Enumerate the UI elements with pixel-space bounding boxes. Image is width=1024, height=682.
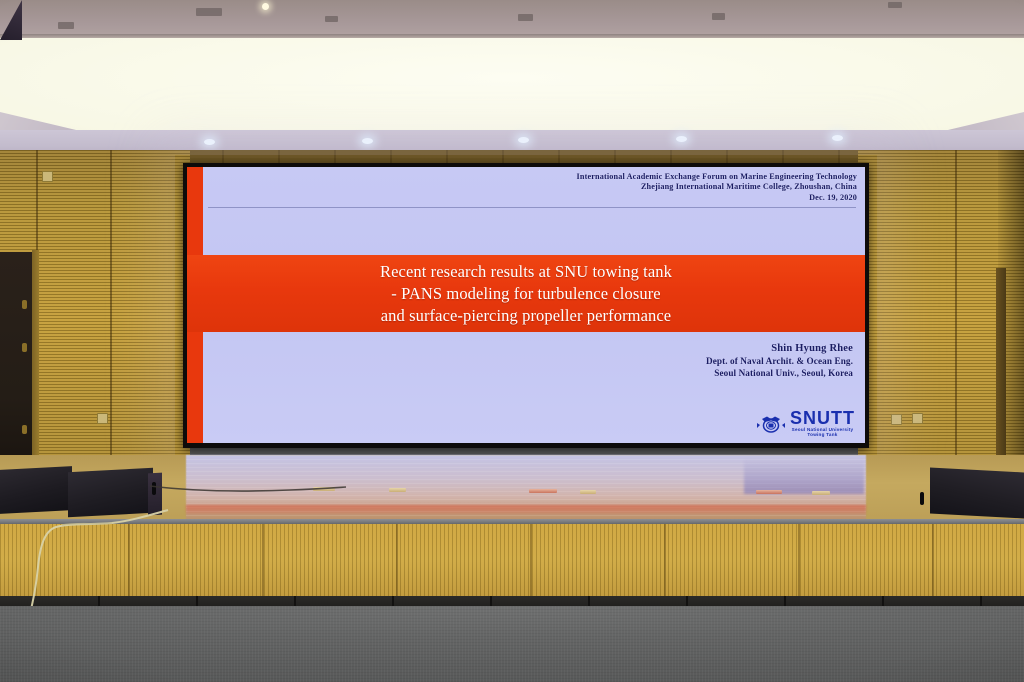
stage-panel-seam — [396, 524, 398, 602]
downlight — [518, 137, 529, 143]
snu-seal-emblem-icon — [756, 412, 786, 434]
header-line-date: Dec. 19, 2020 — [427, 193, 857, 203]
author-affiliation: Seoul National Univ., Seoul, Korea — [493, 367, 853, 379]
downlight — [832, 135, 843, 141]
header-line-forum: International Academic Exchange Forum on… — [427, 172, 857, 182]
downlight — [362, 138, 373, 144]
author-name: Shin Hyung Rhee — [493, 342, 853, 355]
slide-header: International Academic Exchange Forum on… — [427, 172, 857, 203]
ceiling-vent — [325, 16, 338, 22]
ceiling-vent — [888, 2, 902, 8]
conference-hall-scene: International Academic Exchange Forum on… — [0, 0, 1024, 682]
snutt-wordmark: SNUTT — [790, 409, 855, 427]
slide-canvas: International Academic Exchange Forum on… — [187, 167, 865, 443]
stage-monitor-speaker-right — [930, 468, 1024, 519]
wall-outlet-plate[interactable] — [97, 413, 108, 424]
stage-panel-seam — [932, 524, 934, 602]
downlight — [204, 139, 215, 145]
slide-title-line-3: and surface-piercing propeller performan… — [381, 305, 672, 327]
floor-marker — [812, 491, 830, 495]
floor-marker — [529, 489, 557, 493]
slide-author-block: Shin Hyung Rhee Dept. of Naval Archit. &… — [493, 342, 853, 379]
stage-panel-seam — [530, 524, 532, 602]
ceiling-spot-light — [262, 3, 269, 10]
floor-marker — [313, 487, 335, 491]
ceiling-vent — [518, 14, 533, 21]
stage-monitor-speaker-left-a — [0, 466, 72, 514]
ceiling-vent — [58, 22, 74, 29]
wall-outlet-plate[interactable] — [891, 414, 902, 425]
floor-marker — [389, 488, 406, 492]
stage-monitor-speaker-left-b — [68, 468, 153, 517]
ceiling-light-panel-glow — [0, 38, 1024, 138]
floor-marker — [756, 490, 782, 494]
author-department: Dept. of Naval Archit. & Ocean Eng. — [493, 355, 853, 367]
slide-header-rule — [208, 207, 856, 208]
downlight — [676, 136, 687, 142]
slide-title-line-2: - PANS modeling for turbulence closure — [391, 283, 660, 305]
doorway-frame — [32, 250, 39, 460]
floor-marker — [580, 490, 596, 494]
wall-corner-post — [996, 268, 1006, 460]
ceiling-vent — [196, 8, 222, 16]
header-line-venue: Zhejiang International Maritime College,… — [427, 182, 857, 192]
slide-title-band: Recent research results at SNU towing ta… — [187, 255, 865, 332]
stage-panel-seam — [664, 524, 666, 602]
wall-outlet-plate[interactable] — [42, 171, 53, 182]
snutt-wordmark-group: SNUTT Seoul National University Towing T… — [790, 409, 855, 438]
stage-panel-seam — [128, 524, 130, 602]
slide-title-line-1: Recent research results at SNU towing ta… — [380, 261, 672, 283]
reflected-title-band — [186, 505, 866, 514]
stage-front-panel — [0, 524, 1024, 602]
speaker-port-left — [152, 482, 156, 495]
side-doorway[interactable] — [0, 252, 34, 460]
snutt-logo: SNUTT Seoul National University Towing T… — [756, 409, 855, 438]
stage-panel-seam — [798, 524, 800, 602]
door-hinge — [22, 425, 27, 434]
carpet-texture — [0, 606, 1024, 682]
wall-seam — [110, 150, 112, 460]
reflected-snutt-logo — [744, 458, 864, 494]
door-hinge — [22, 300, 27, 309]
wall-outlet-plate[interactable] — [912, 413, 923, 424]
wall-seam — [36, 150, 38, 254]
speaker-port-right — [920, 492, 924, 505]
presentation-screen[interactable]: International Academic Exchange Forum on… — [187, 167, 865, 443]
wall-seam — [955, 150, 957, 460]
snutt-subtitle-line-2: Towing Tank — [790, 433, 855, 438]
door-hinge — [22, 343, 27, 352]
stage-panel-seam — [262, 524, 264, 602]
ceiling-vent — [712, 13, 725, 20]
